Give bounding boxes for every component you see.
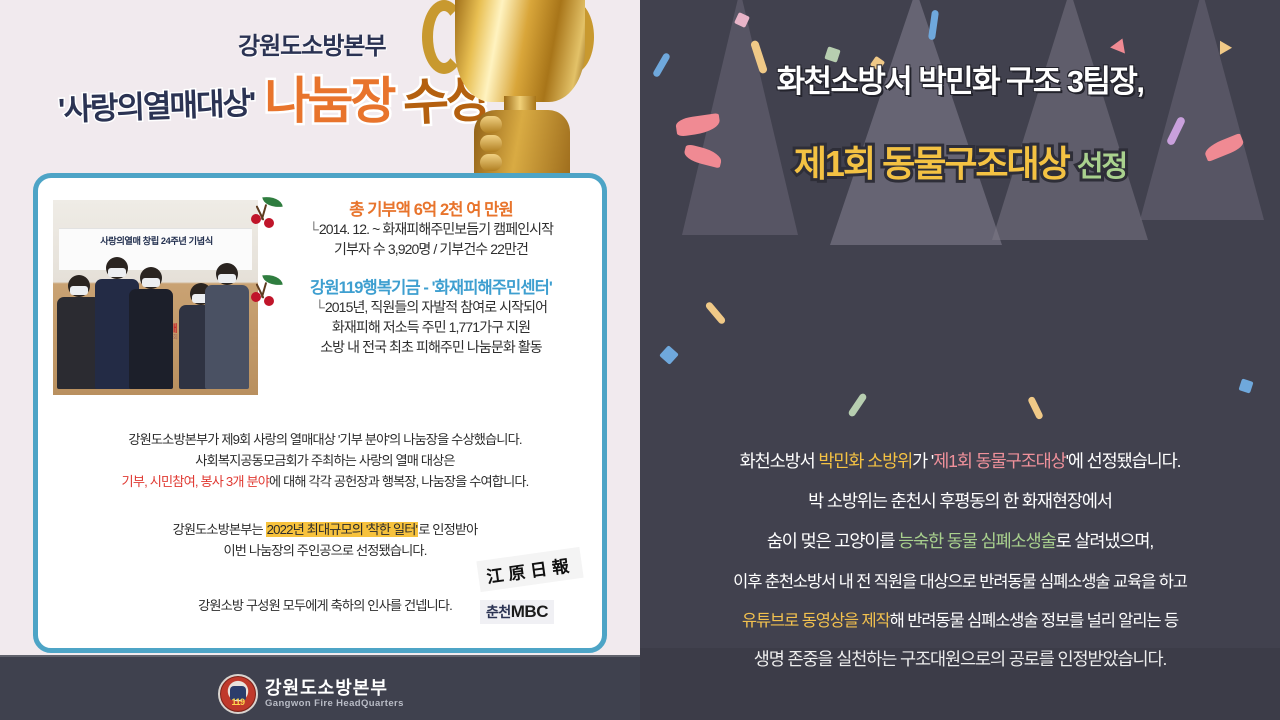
trophy-icon — [400, 0, 640, 186]
left-headline-area: 강원도소방본부 '사랑의열매대상' 나눔장 수상 — [0, 0, 640, 175]
light-beam — [1140, 0, 1264, 220]
bullet-line: 소방 내 전국 최초 피해주민 나눔문화 활동 — [266, 338, 596, 358]
left-award-quote: '사랑의열매대상' — [57, 77, 255, 129]
left-press-logos: 江原日報 춘천MBC — [474, 554, 594, 628]
paragraph-line: 기부, 시민참여, 봉사 3개 분야에 대해 각각 공헌장과 행복장, 나눔장을… — [66, 472, 584, 493]
body-line: 유튜브로 동영상을 제작해 반려동물 심폐소생술 정보를 널리 알리는 등 — [664, 607, 1256, 631]
bullet-line: └2014. 12. ~ 화재피해주민보듬기 캠페인시작 — [266, 220, 596, 240]
bullet-item: 강원119행복기금 - '화재피해주민센터' └2015년, 직원들의 자발적 … — [266, 274, 596, 358]
confetti — [1027, 396, 1044, 421]
bullet-title: 총 기부액 6억 2천 여 만원 — [266, 196, 596, 220]
bullet-line: 기부자 수 3,920명 / 기부건수 22만건 — [266, 240, 596, 260]
body-line: 박 소방위는 춘천시 후평동의 한 화재현장에서 — [664, 488, 1256, 513]
bottom-shade — [640, 648, 1280, 720]
right-headline-2: 제1회 동물구조대상 선정 — [640, 135, 1280, 187]
confetti — [659, 345, 679, 365]
gangwon-daily-logo: 江原日報 — [476, 547, 583, 592]
body-line: 화천소방서 박민화 소방위가 '제1회 동물구조대상'에 선정됐습니다. — [664, 448, 1256, 473]
paragraph-line: 강원도소방본부는 2022년 최대규모의 '착한 일터'로 인정받아 — [66, 520, 584, 541]
bullet-item: 총 기부액 6억 2천 여 만원 └2014. 12. ~ 화재피해주민보듬기 … — [266, 196, 596, 260]
left-panel: 강원도소방본부 '사랑의열매대상' 나눔장 수상 사랑의열매 창립 — [0, 0, 640, 720]
left-content-card: 사랑의열매 창립 24주년 기념식 사랑의열매 사회복지공동모금회 총 기부액 … — [33, 173, 607, 653]
ceremony-photo: 사랑의열매 창립 24주년 기념식 사랑의열매 사회복지공동모금회 — [53, 200, 258, 395]
bullet-line: └2015년, 직원들의 자발적 참여로 시작되어 — [266, 298, 596, 318]
bullet-title: 강원119행복기금 - '화재피해주민센터' — [266, 274, 596, 298]
right-headline-selected: 선정 — [1077, 151, 1126, 183]
gangwon-fire-logo: 강원도소방본부 Gangwon Fire HeadQuarters — [218, 674, 404, 714]
footer-logo-ko: 강원도소방본부 — [265, 679, 404, 698]
body-line: 숨이 멎은 고양이를 능숙한 동물 심폐소생술로 살려냈으며, — [664, 528, 1256, 553]
cherry-icon — [250, 196, 284, 230]
paragraph-line: 사회복지공동모금회가 주최하는 사랑의 열매 대상은 — [66, 451, 584, 472]
confetti — [847, 392, 867, 417]
light-beam — [992, 0, 1148, 240]
light-beam — [830, 0, 1002, 245]
confetti — [704, 301, 726, 325]
left-paragraph-1: 강원도소방본부가 제9회 사랑의 열매대상 '기부 분야'의 나눔장을 수상했습… — [66, 430, 584, 493]
left-bullet-list: 총 기부액 6억 2천 여 만원 └2014. 12. ~ 화재피해주민보듬기 … — [266, 196, 596, 361]
left-org-title: 강원도소방본부 — [238, 26, 386, 61]
left-footer-bar: 강원도소방본부 Gangwon Fire HeadQuarters — [0, 655, 640, 720]
ceremony-banner-text: 사랑의열매 창립 24주년 기념식 — [59, 233, 254, 247]
right-headline-award: 제1회 동물구조대상 — [794, 143, 1069, 184]
paragraph-line: 강원도소방본부가 제9회 사랑의 열매대상 '기부 분야'의 나눔장을 수상했습… — [66, 430, 584, 451]
fire-emblem-icon — [218, 674, 258, 714]
bullet-line: 화재피해 저소득 주민 1,771가구 지원 — [266, 318, 596, 338]
left-award-main: 나눔장 — [264, 78, 393, 126]
right-body-text: 화천소방서 박민화 소방위가 '제1회 동물구조대상'에 선정됐습니다. 박 소… — [664, 448, 1256, 671]
chuncheon-mbc-logo: 춘천MBC — [480, 600, 554, 624]
body-line: 이후 춘천소방서 내 전 직원을 대상으로 반려동물 심폐소생술 교육을 하고 — [664, 568, 1256, 592]
right-headline-1: 화천소방서 박민화 구조 3팀장, — [640, 56, 1280, 101]
footer-logo-en: Gangwon Fire HeadQuarters — [265, 698, 404, 709]
right-panel: 화천소방서 박민화 구조 3팀장, 제1회 동물구조대상 선정 한국일보 SCE… — [640, 0, 1280, 720]
cherry-icon — [250, 274, 284, 308]
slide-stage: 강원도소방본부 '사랑의열매대상' 나눔장 수상 사랑의열매 창립 — [0, 0, 1280, 720]
confetti — [1238, 378, 1253, 393]
